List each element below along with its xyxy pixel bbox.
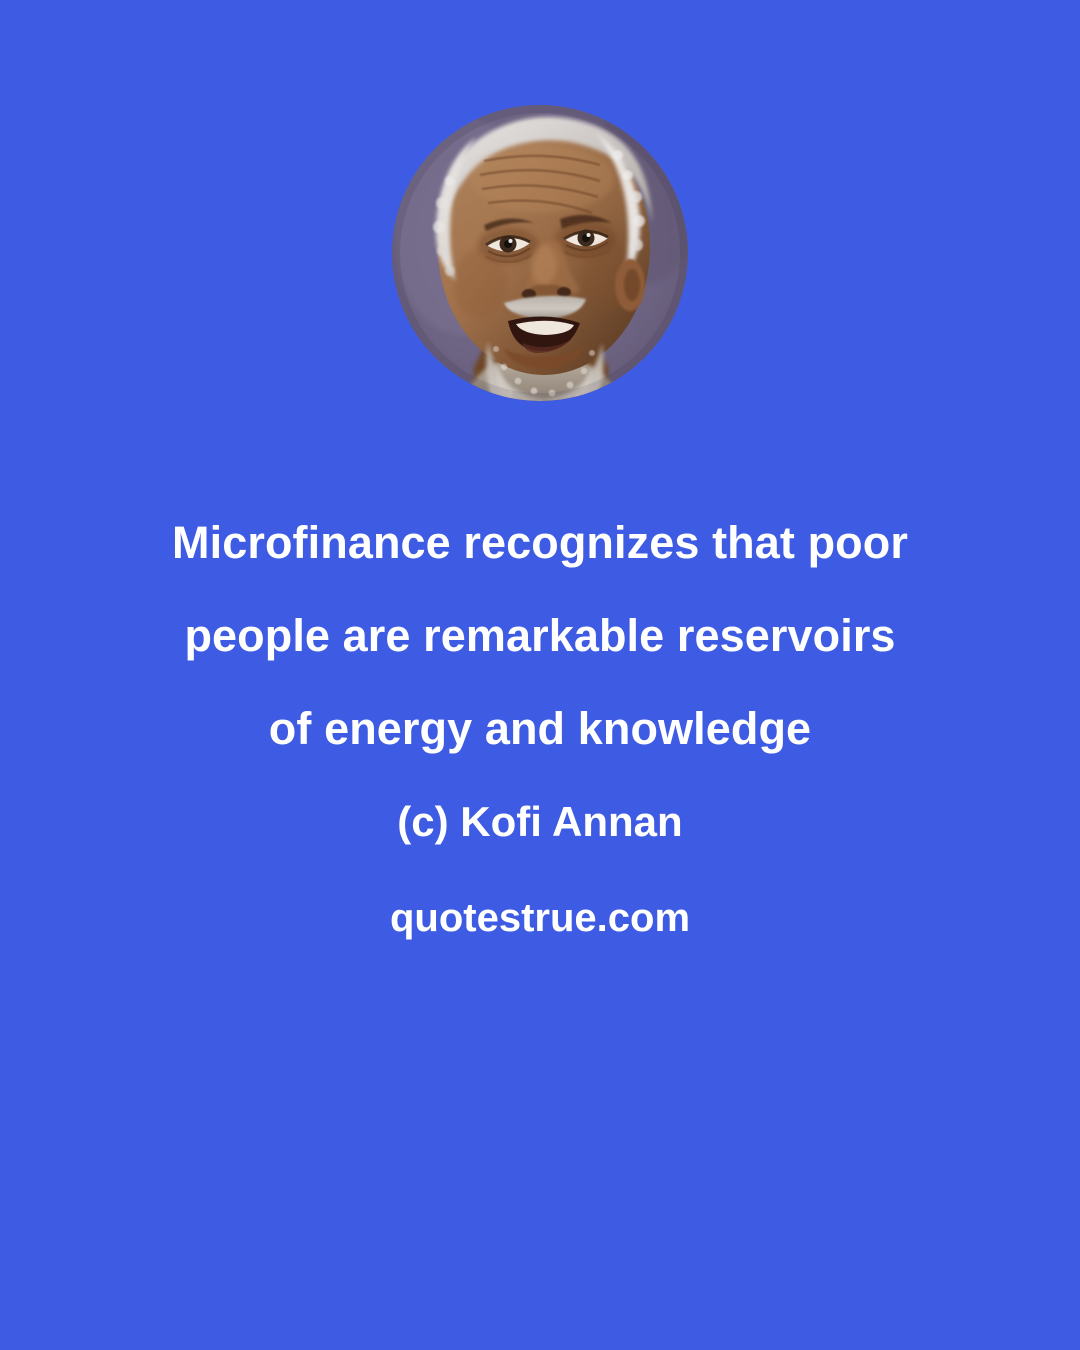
portrait-photo-kofi-annan: [392, 105, 688, 401]
website-credit: quotestrue.com: [0, 868, 1080, 968]
quote-line-2: people are remarkable reservoirs: [0, 589, 1080, 682]
portrait-avatar: [392, 105, 688, 401]
quote-line-3: of energy and knowledge: [0, 682, 1080, 775]
quote-text-block: Microfinance recognizes that poor people…: [0, 496, 1080, 968]
quote-card: Microfinance recognizes that poor people…: [0, 0, 1080, 1350]
quote-line-1: Microfinance recognizes that poor: [0, 496, 1080, 589]
quote-attribution: (c) Kofi Annan: [0, 775, 1080, 868]
